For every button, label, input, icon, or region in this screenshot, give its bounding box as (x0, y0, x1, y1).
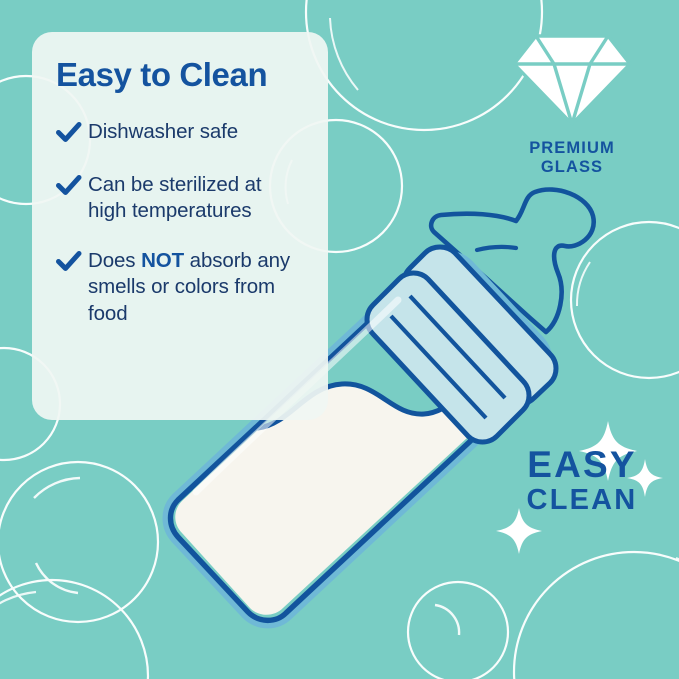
easy-clean-line-2: CLEAN (512, 483, 652, 518)
easy-clean-line-1: EASY (512, 446, 652, 483)
poster-canvas: Easy to Clean Dishwasher safe Can be ste… (0, 0, 679, 679)
sparkles-group (0, 0, 679, 679)
easy-clean-wordmark: EASY CLEAN (512, 446, 652, 518)
